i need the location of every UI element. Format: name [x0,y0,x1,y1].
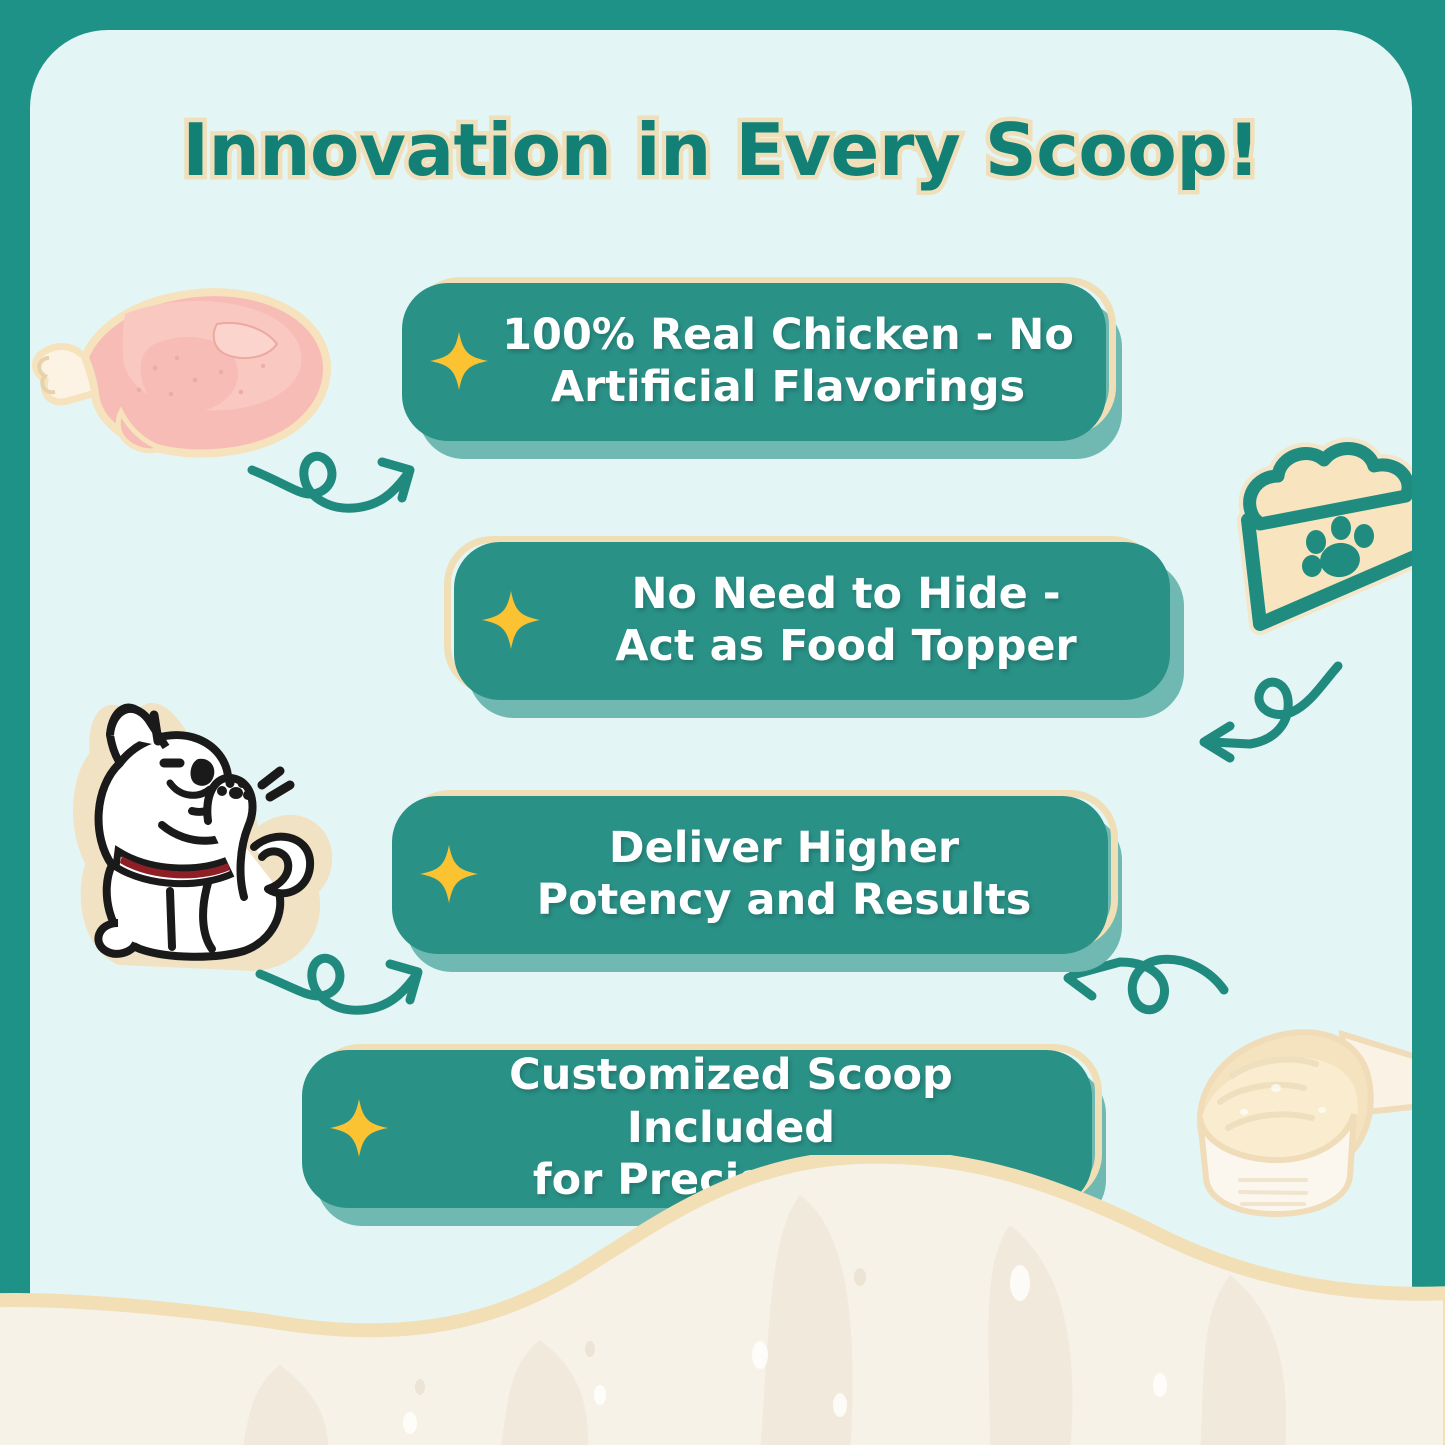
curly-arrow-left-icon [1182,658,1377,766]
feature-pill-text: No Need to Hide - Act as Food Topper [552,568,1140,673]
powder-mound-icon [0,1155,1445,1445]
sparkle-star-icon [328,1097,390,1159]
raw-chicken-icon [30,262,355,467]
curly-arrow-right-icon [242,438,442,526]
sparkle-star-icon [418,843,480,905]
sparkle-star-icon [428,330,490,392]
feature-pill-text: 100% Real Chicken - No Artificial Flavor… [500,309,1076,414]
feature-pill-higher-potency[interactable]: Deliver Higher Potency and Results [392,796,1108,954]
sparkle-star-icon [480,589,542,651]
infographic-canvas: Innovation in Every Scoop! [0,0,1445,1445]
page-title-text: Innovation in Every Scoop! [182,108,1259,192]
feature-pill-text: Deliver Higher Potency and Results [490,822,1078,927]
dog-bowl-icon [1208,428,1412,653]
shiba-dog-icon [58,675,344,980]
feature-pill-food-topper[interactable]: No Need to Hide - Act as Food Topper [454,542,1170,700]
feature-pill-real-chicken[interactable]: 100% Real Chicken - No Artificial Flavor… [402,283,1106,441]
page-title: Innovation in Every Scoop! [30,108,1412,192]
